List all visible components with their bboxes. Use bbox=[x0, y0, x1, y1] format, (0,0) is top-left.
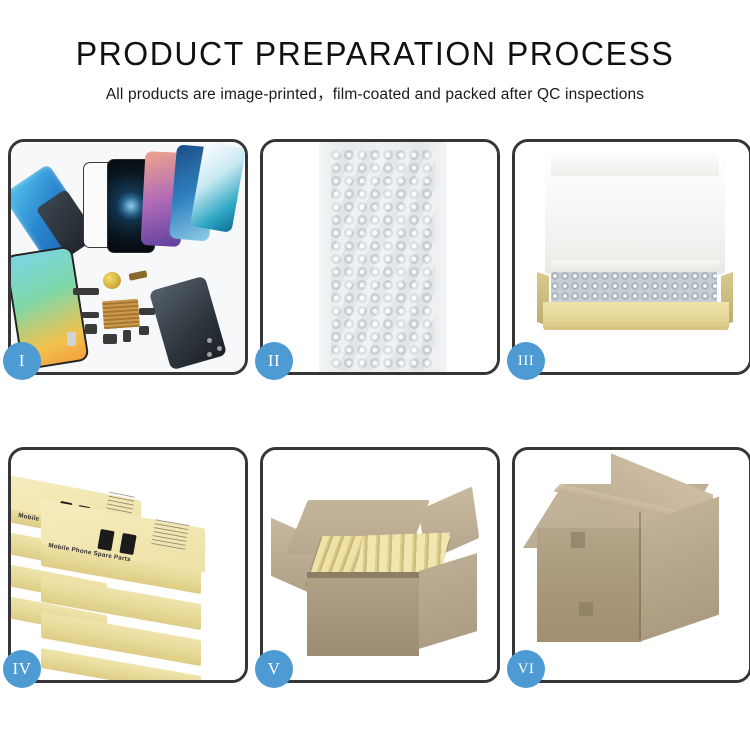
box-front-icon bbox=[543, 302, 729, 330]
small-part-a-icon bbox=[81, 312, 99, 318]
process-step-panel-2: II bbox=[260, 139, 500, 375]
step-badge-1: I bbox=[3, 342, 41, 380]
carton-front-icon bbox=[307, 578, 419, 656]
sealed-carton-front-icon bbox=[537, 528, 641, 642]
small-part-d-icon bbox=[123, 330, 131, 342]
connector-board-icon bbox=[102, 299, 140, 329]
small-part-b-icon bbox=[85, 324, 97, 334]
process-step-panel-5: V bbox=[260, 447, 500, 683]
speaker-part-icon bbox=[103, 272, 121, 289]
page-header: PRODUCT PREPARATION PROCESS All products… bbox=[0, 0, 750, 106]
phone-back-cover-icon bbox=[149, 276, 227, 371]
process-step-panel-6: VI bbox=[512, 447, 750, 683]
page-title: PRODUCT PREPARATION PROCESS bbox=[11, 34, 739, 74]
screw-b-icon bbox=[217, 346, 222, 351]
process-step-panel-1: I bbox=[8, 139, 248, 375]
sealed-carton-image bbox=[515, 450, 749, 680]
step-badge-3: III bbox=[507, 342, 545, 380]
step-badge-5: V bbox=[255, 650, 293, 688]
carton-seam-bottom-icon bbox=[579, 602, 593, 616]
stacked-boxes-image: Mobile Phone Spare Parts Mobile Phone Sp… bbox=[11, 450, 245, 680]
bubble-content-icon bbox=[551, 272, 717, 304]
page-subtitle: All products are image-printed，film-coat… bbox=[0, 84, 750, 106]
small-part-g-icon bbox=[67, 332, 76, 346]
inner-box-image bbox=[515, 142, 749, 372]
bubble-wrap-image bbox=[263, 142, 497, 372]
small-part-f-icon bbox=[139, 326, 149, 335]
carton-seam-top-icon bbox=[571, 532, 585, 548]
open-carton-image bbox=[263, 450, 497, 680]
box-stack-icon: Mobile Phone Spare Parts Mobile Phone Sp… bbox=[11, 450, 245, 680]
box-spec-lines-right bbox=[151, 519, 189, 552]
step-badge-4: IV bbox=[3, 650, 41, 688]
bubble-sheen-icon bbox=[331, 150, 435, 370]
process-step-panel-3: III bbox=[512, 139, 750, 375]
screw-c-icon bbox=[207, 352, 212, 357]
phone-parts-image bbox=[11, 142, 245, 372]
gold-contact-icon bbox=[128, 270, 147, 281]
process-step-panel-4: Mobile Phone Spare Parts Mobile Phone Sp… bbox=[8, 447, 248, 683]
process-step-grid: I II III bbox=[8, 139, 742, 683]
screw-a-icon bbox=[207, 338, 212, 343]
small-part-c-icon bbox=[103, 334, 117, 344]
box-lid-top-icon bbox=[551, 154, 719, 176]
step-badge-6: VI bbox=[507, 650, 545, 688]
small-part-e-icon bbox=[139, 308, 155, 315]
step-badge-2: II bbox=[255, 342, 293, 380]
sealed-carton-side-icon bbox=[641, 497, 719, 642]
carton-corner-edge-icon bbox=[639, 512, 641, 640]
carton-side-icon bbox=[419, 553, 477, 649]
flex-cable-icon bbox=[73, 288, 99, 295]
